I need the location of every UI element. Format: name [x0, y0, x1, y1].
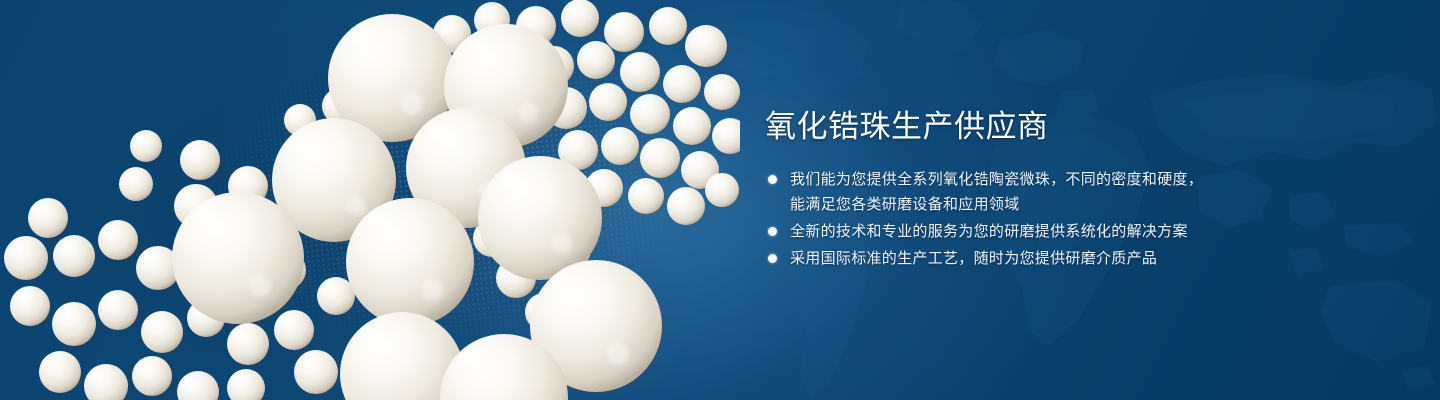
- list-item: 全新的技术和专业的服务为您的研磨提供系统化的解决方案: [765, 219, 1385, 244]
- zirconia-beads-photo: [0, 0, 740, 400]
- halftone-dot-pattern: [37, 0, 843, 400]
- banner-content: 氧化锆珠生产供应商 我们能为您提供全系列氧化锆陶瓷微珠，不同的密度和硬度， 能满…: [765, 108, 1385, 271]
- bullet-dot-icon: [768, 175, 777, 184]
- page-title: 氧化锆珠生产供应商: [765, 108, 1385, 146]
- bullet-dot-icon: [768, 254, 777, 263]
- feature-bullet-list: 我们能为您提供全系列氧化锆陶瓷微珠，不同的密度和硬度， 能满足您各类研磨设备和应…: [765, 167, 1385, 271]
- bullet-text-line1: 我们能为您提供全系列氧化锆陶瓷微珠，不同的密度和硬度，: [790, 171, 1203, 188]
- bullet-dot-icon: [768, 227, 777, 236]
- list-item: 我们能为您提供全系列氧化锆陶瓷微珠，不同的密度和硬度， 能满足您各类研磨设备和应…: [765, 167, 1385, 217]
- hero-banner: 氧化锆珠生产供应商 我们能为您提供全系列氧化锆陶瓷微珠，不同的密度和硬度， 能满…: [0, 0, 1440, 400]
- bullet-text-line2: 能满足您各类研磨设备和应用领域: [790, 192, 1385, 217]
- list-item: 采用国际标准的生产工艺，随时为您提供研磨介质产品: [765, 246, 1385, 271]
- bullet-text-line1: 采用国际标准的生产工艺，随时为您提供研磨介质产品: [790, 250, 1157, 267]
- bullet-text-line1: 全新的技术和专业的服务为您的研磨提供系统化的解决方案: [790, 223, 1188, 240]
